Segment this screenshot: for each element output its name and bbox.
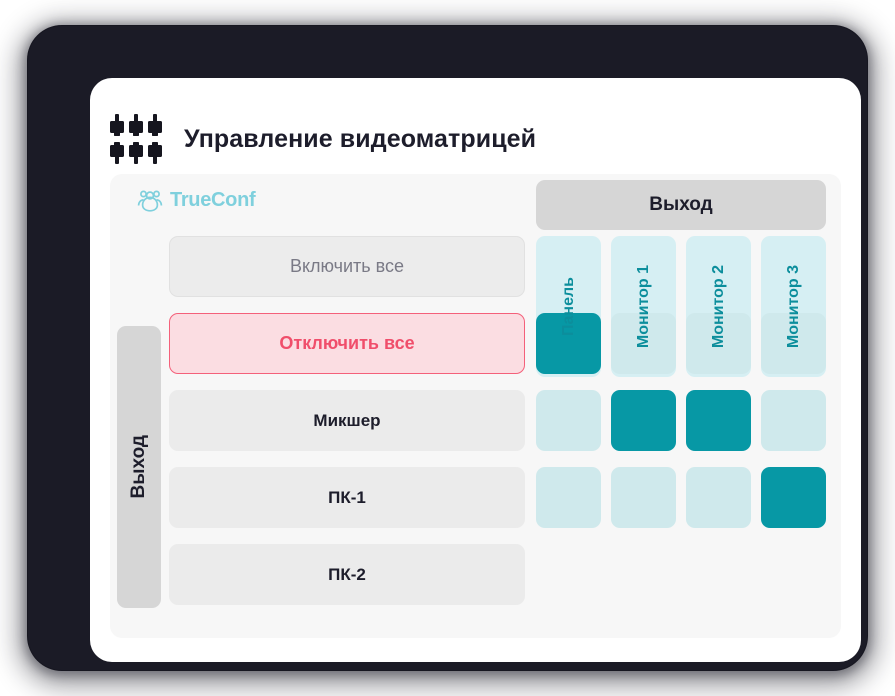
matrix-grid: Панель Монитор 1 Монитор 2 Монитор 3 — [536, 236, 826, 528]
disable-all-button[interactable]: Отключить все — [169, 313, 525, 374]
matrix-cell-2-0[interactable] — [536, 467, 601, 528]
output-rail: Выход — [117, 326, 161, 608]
column-header-label-3: Монитор 3 — [785, 265, 803, 348]
titlebar: Управление видеоматрицей — [90, 78, 861, 174]
matrix-cell-2-2[interactable] — [686, 467, 751, 528]
video-matrix-plugs-icon — [110, 114, 162, 164]
matrix-cell-1-0[interactable] — [536, 390, 601, 451]
output-header-label: Выход — [536, 180, 826, 230]
matrix-cell-1-1[interactable] — [611, 390, 676, 451]
matrix-cell-1-3[interactable] — [761, 390, 826, 451]
brand-name: TrueConf — [170, 189, 255, 212]
device-frame: Управление видеоматрицей — [28, 26, 867, 670]
source-button-row-2[interactable]: ПК-2 — [169, 544, 525, 605]
matrix-cell-2-3[interactable] — [761, 467, 826, 528]
enable-all-button[interactable]: Включить все — [169, 236, 525, 297]
screenshot-root: Управление видеоматрицей — [0, 0, 895, 696]
sources-column: Включить все Отключить все Микшер ПК-1 П… — [169, 236, 525, 605]
column-header-label-1: Монитор 1 — [635, 265, 653, 348]
source-button-row-1[interactable]: ПК-1 — [169, 467, 525, 528]
matrix-cell-1-2[interactable] — [686, 390, 751, 451]
page-title: Управление видеоматрицей — [184, 125, 536, 154]
column-header-label-0: Панель — [560, 277, 578, 336]
matrix-cell-2-1[interactable] — [611, 467, 676, 528]
trueconf-people-logo-icon — [137, 188, 163, 212]
source-button-row-0[interactable]: Микшер — [169, 390, 525, 451]
brand: TrueConf — [137, 188, 255, 212]
column-header-label-2: Монитор 2 — [710, 265, 728, 348]
output-rail-label: Выход — [128, 435, 150, 498]
matrix-panel: TrueConf Выход Выход Включить все Отключ… — [110, 174, 841, 638]
app-card: Управление видеоматрицей — [90, 78, 861, 662]
